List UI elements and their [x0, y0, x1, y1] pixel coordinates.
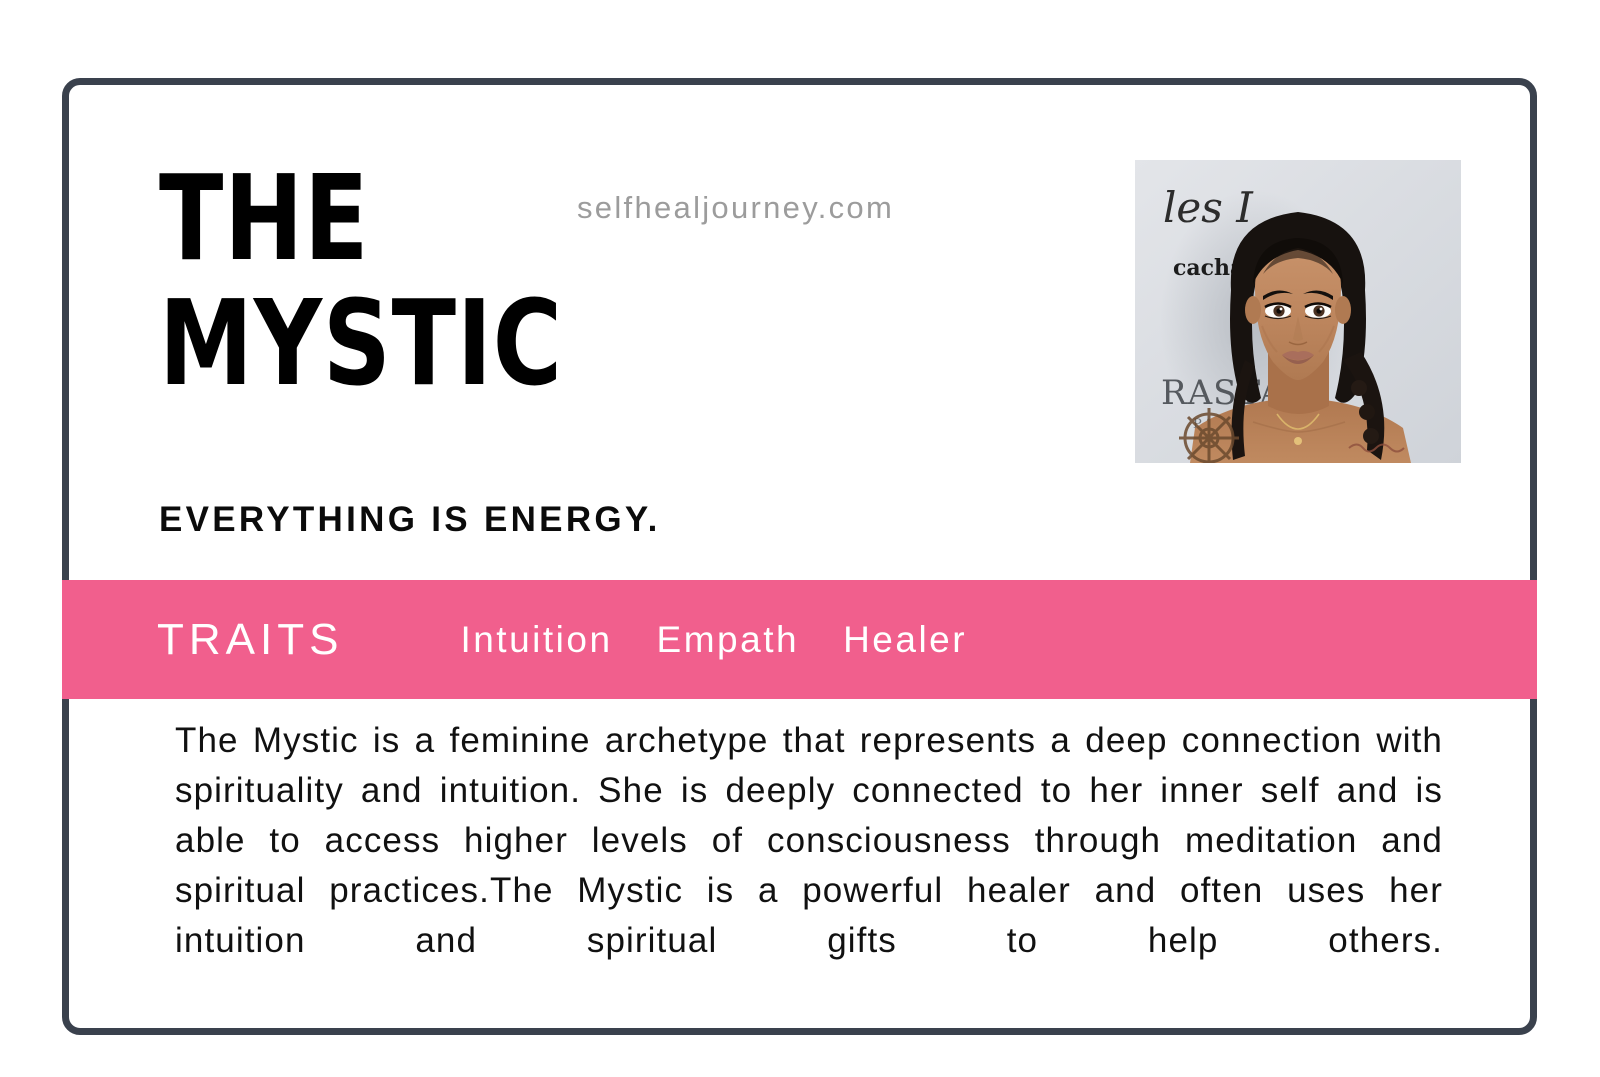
traits-label: TRAITS — [157, 615, 343, 665]
traits-list: Intuition Empath Healer — [460, 619, 967, 661]
tagline-text: EVERYTHING IS ENERGY. — [159, 500, 661, 540]
site-url-text: selfhealjourney.com — [577, 190, 894, 226]
page-title-line-1: THE — [159, 163, 607, 274]
trait-item-healer: Healer — [843, 619, 967, 661]
trait-item-intuition: Intuition — [460, 619, 612, 661]
description-paragraph: The Mystic is a feminine archetype that … — [175, 716, 1443, 1016]
archetype-card: THE MYSTIC selfhealjourney.com EVERYTHIN… — [62, 78, 1537, 1035]
page-root: THE MYSTIC selfhealjourney.com EVERYTHIN… — [0, 0, 1600, 1077]
traits-bar: TRAITS Intuition Empath Healer — [62, 580, 1537, 699]
portrait-illustration: les I cacha RASTA PARIS — [1135, 160, 1461, 463]
portrait-photo: les I cacha RASTA PARIS — [1135, 160, 1461, 463]
svg-text:les I: les I — [1163, 183, 1254, 232]
trait-item-empath: Empath — [657, 619, 800, 661]
page-title-line-2: MYSTIC — [159, 288, 607, 399]
